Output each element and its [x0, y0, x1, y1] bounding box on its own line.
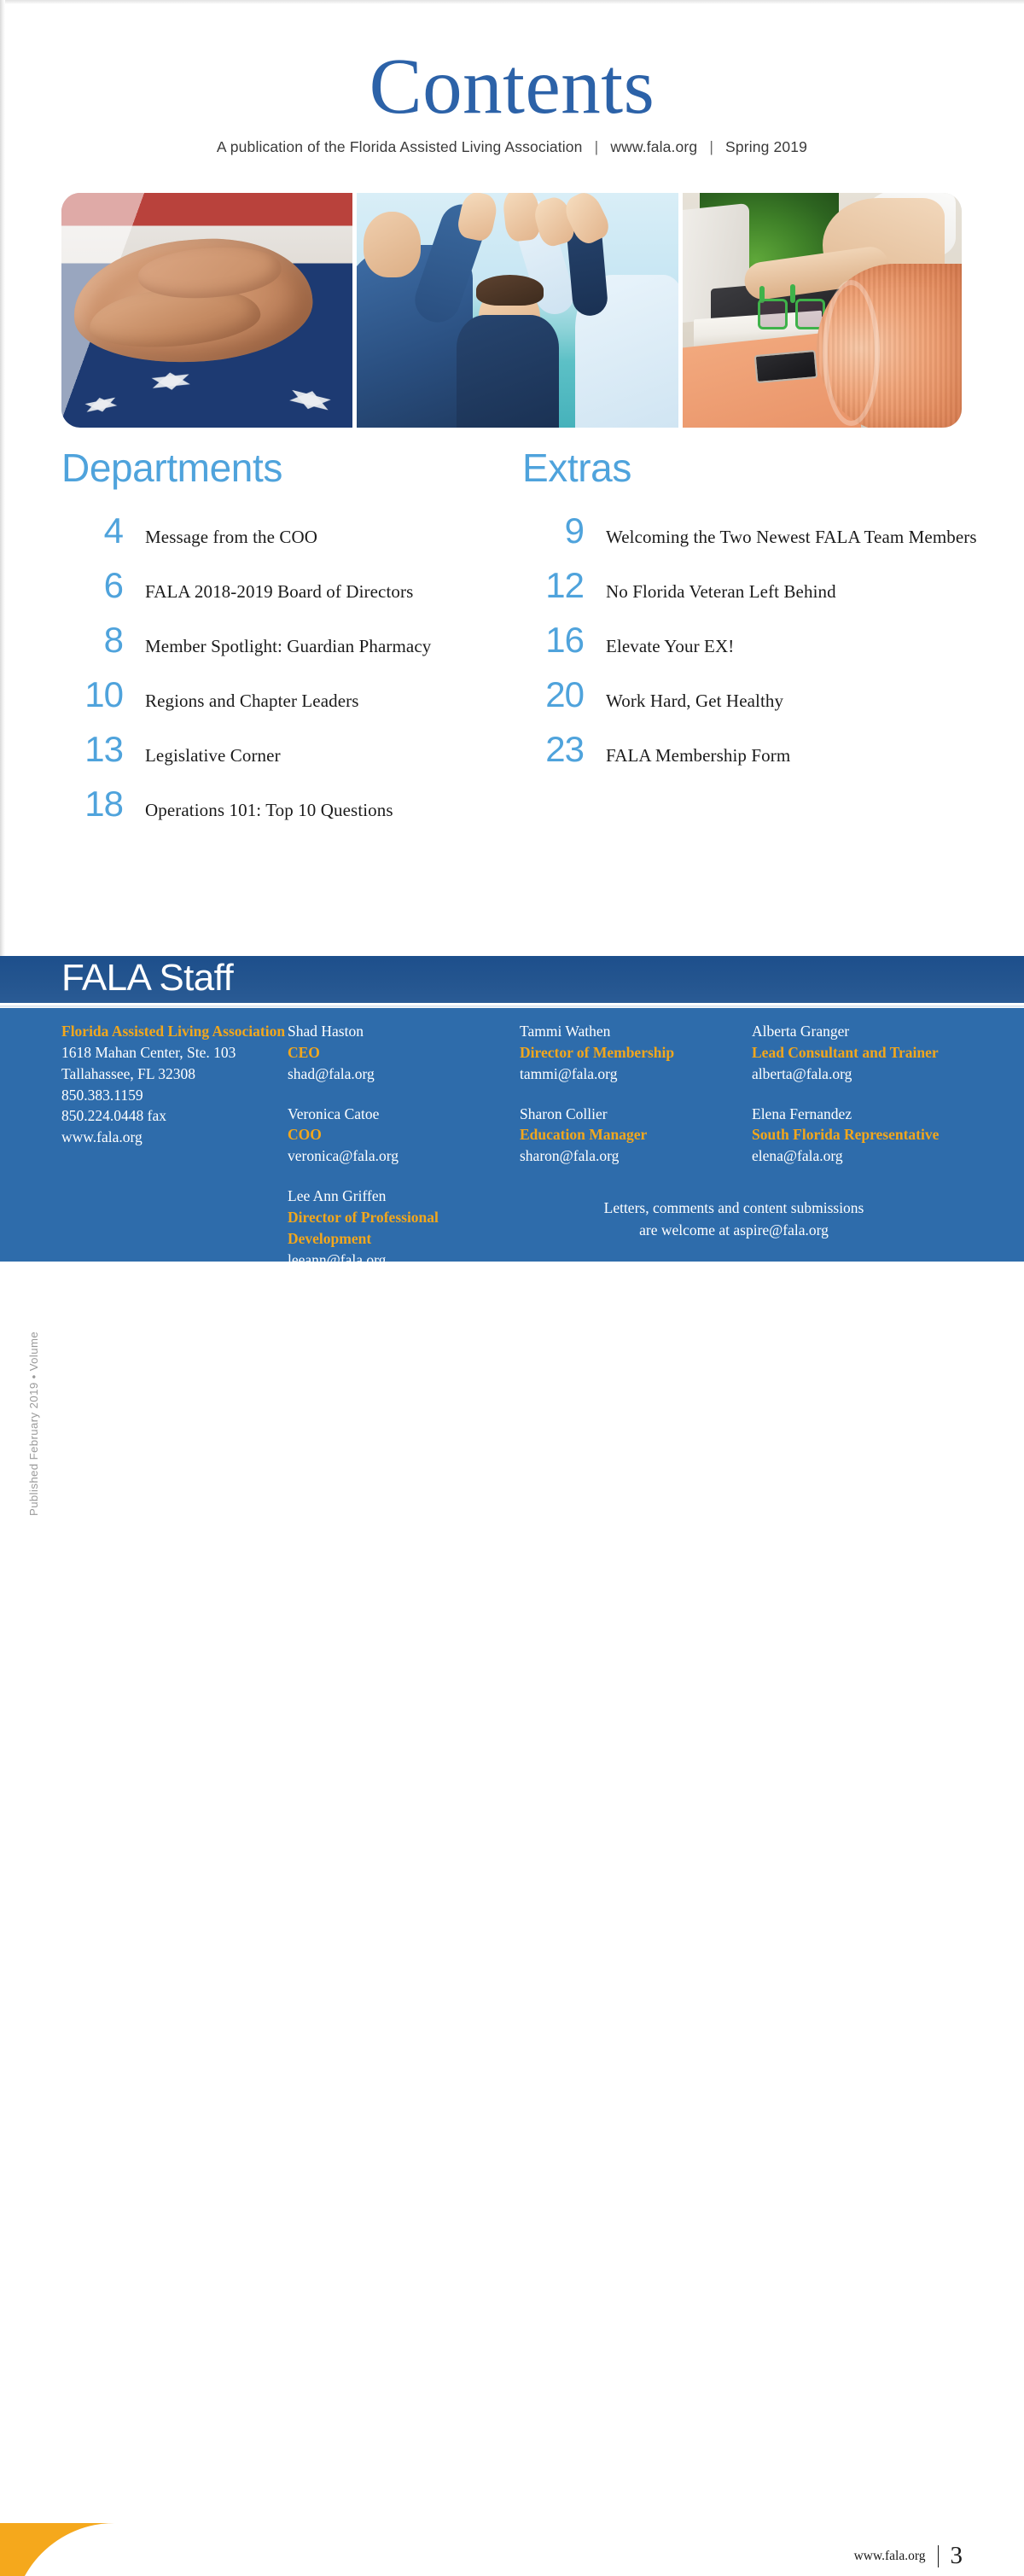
- magazine-contents-page: Contents A publication of the Florida As…: [0, 0, 1024, 1330]
- toc-entry[interactable]: 9 Welcoming the Two Newest FALA Team Mem…: [522, 513, 983, 568]
- toc-entry[interactable]: 12 No Florida Veteran Left Behind: [522, 568, 983, 622]
- staff-member-email[interactable]: shad@fala.org: [288, 1064, 520, 1085]
- toc-entry-title: Operations 101: Top 10 Questions: [123, 800, 393, 821]
- toc-entry[interactable]: 13 Legislative Corner: [61, 731, 522, 786]
- toc-entry-title: Member Spotlight: Guardian Pharmacy: [123, 636, 431, 657]
- toc-page-number: 12: [522, 568, 584, 603]
- toc-page-number: 10: [61, 677, 123, 713]
- staff-member-name: Elena Fernandez: [752, 1104, 991, 1125]
- toc-entry-title: Work Hard, Get Healthy: [584, 691, 783, 712]
- organization-info-column: Florida Assisted Living Association 1618…: [61, 1021, 288, 1289]
- staff-member-email[interactable]: veronica@fala.org: [288, 1145, 520, 1167]
- letters-line-1: Letters, comments and content submission…: [512, 1197, 956, 1219]
- staff-member: Elena Fernandez South Florida Representa…: [752, 1104, 991, 1168]
- staff-member-name: Sharon Collier: [520, 1104, 752, 1125]
- organization-address-line2: Tallahassee, FL 32308: [61, 1064, 288, 1085]
- masthead-separator-1: |: [587, 138, 607, 155]
- staff-member-email[interactable]: elena@fala.org: [752, 1145, 991, 1167]
- staff-member-role: Director of Membership: [520, 1042, 752, 1064]
- footer-page-number: 3: [951, 2542, 963, 2570]
- staff-column-3: Alberta Granger Lead Consultant and Trai…: [752, 1021, 991, 1289]
- toc-entry-title: Regions and Chapter Leaders: [123, 691, 359, 712]
- staff-member: Alberta Granger Lead Consultant and Trai…: [752, 1021, 991, 1085]
- toc-entry-title: FALA 2018-2019 Board of Directors: [123, 581, 413, 603]
- staff-member-role: Education Manager: [520, 1124, 752, 1145]
- page-top-edge: [0, 0, 1024, 4]
- staff-member-email[interactable]: sharon@fala.org: [520, 1145, 752, 1167]
- masthead-subtitle: A publication of the Florida Assisted Li…: [0, 138, 1024, 156]
- staff-column-1: Shad Haston CEO shad@fala.org Veronica C…: [288, 1021, 520, 1289]
- staff-member-name: Veronica Catoe: [288, 1104, 520, 1125]
- staff-member-role: COO: [288, 1124, 520, 1145]
- page-footer: www.fala.org 3: [0, 1262, 1024, 1330]
- toc-page-number: 20: [522, 677, 584, 713]
- departments-heading: Departments: [61, 448, 522, 487]
- staff-member-role: South Florida Representative: [752, 1124, 991, 1145]
- staff-member-email[interactable]: tammi@fala.org: [520, 1064, 752, 1085]
- staff-member: Shad Haston CEO shad@fala.org: [288, 1021, 520, 1085]
- toc-page-number: 8: [61, 622, 123, 658]
- staff-member-role: CEO: [288, 1042, 520, 1064]
- publication-line: A publication of the Florida Assisted Li…: [217, 138, 583, 155]
- toc-entry[interactable]: 8 Member Spotlight: Guardian Pharmacy: [61, 622, 522, 677]
- toc-page-number: 18: [61, 786, 123, 822]
- extras-heading: Extras: [522, 448, 983, 487]
- toc-entry-title: Welcoming the Two Newest FALA Team Membe…: [584, 527, 977, 548]
- toc-page-number: 6: [61, 568, 123, 603]
- organization-fax: 850.224.0448 fax: [61, 1105, 288, 1127]
- departments-column: Departments 4 Message from the COO 6 FAL…: [61, 448, 522, 841]
- toc-entry-title: FALA Membership Form: [584, 745, 790, 766]
- staff-member-email[interactable]: alberta@fala.org: [752, 1064, 991, 1085]
- toc-page-number: 13: [61, 731, 123, 767]
- staff-member: Sharon Collier Education Manager sharon@…: [520, 1104, 752, 1168]
- footer-website[interactable]: www.fala.org: [854, 2549, 926, 2564]
- staff-member-role: Lead Consultant and Trainer: [752, 1042, 991, 1064]
- organization-address-line1: 1618 Mahan Center, Ste. 103: [61, 1042, 288, 1064]
- toc-entry-title: Legislative Corner: [123, 745, 281, 766]
- fala-staff-panel: FALA Staff Florida Assisted Living Assoc…: [0, 956, 1024, 1262]
- footer-divider: [938, 2545, 939, 2567]
- staff-member-name: Alberta Granger: [752, 1021, 991, 1042]
- staff-member-name: Tammi Wathen: [520, 1021, 752, 1042]
- staff-member: Lee Ann Griffen Director of Professional…: [288, 1186, 520, 1270]
- staff-member-name: Shad Haston: [288, 1021, 520, 1042]
- organization-website[interactable]: www.fala.org: [61, 1127, 288, 1148]
- toc-page-number: 9: [522, 513, 584, 549]
- masthead-website[interactable]: www.fala.org: [610, 138, 697, 155]
- toc-entry-title: Elevate Your EX!: [584, 636, 734, 657]
- extras-column: Extras 9 Welcoming the Two Newest FALA T…: [522, 448, 983, 841]
- page-title: Contents: [0, 44, 1024, 130]
- masthead-separator-2: |: [701, 138, 721, 155]
- table-of-contents: Departments 4 Message from the COO 6 FAL…: [0, 448, 1024, 841]
- gold-corner-accent: [0, 2523, 137, 2576]
- letters-line-2: are welcome at aspire@fala.org: [512, 1219, 956, 1241]
- staff-column-2: Tammi Wathen Director of Membership tamm…: [520, 1021, 752, 1289]
- toc-entry[interactable]: 4 Message from the COO: [61, 513, 522, 568]
- staff-member-name: Lee Ann Griffen: [288, 1186, 520, 1207]
- toc-entry[interactable]: 20 Work Hard, Get Healthy: [522, 677, 983, 731]
- masthead: Contents A publication of the Florida As…: [0, 44, 1024, 156]
- organization-name: Florida Assisted Living Association: [61, 1021, 288, 1042]
- letters-invitation: Letters, comments and content submission…: [512, 1197, 956, 1242]
- toc-entry[interactable]: 10 Regions and Chapter Leaders: [61, 677, 522, 731]
- toc-entry[interactable]: 16 Elevate Your EX!: [522, 622, 983, 677]
- staff-member: Veronica Catoe COO veronica@fala.org: [288, 1104, 520, 1168]
- toc-page-number: 4: [61, 513, 123, 549]
- masthead-issue: Spring 2019: [725, 138, 807, 155]
- staff-heading: FALA Staff: [61, 957, 233, 1000]
- hero-image-strip: [61, 193, 962, 428]
- toc-entry-title: No Florida Veteran Left Behind: [584, 581, 836, 603]
- toc-entry[interactable]: 6 FALA 2018-2019 Board of Directors: [61, 568, 522, 622]
- staff-member-role: Director of Professional Development: [288, 1207, 520, 1250]
- staff-header-rule: [0, 1003, 1024, 1008]
- footer-meta: www.fala.org 3: [854, 2542, 963, 2570]
- toc-page-number: 16: [522, 622, 584, 658]
- staff-columns: Florida Assisted Living Association 1618…: [0, 1021, 1024, 1289]
- laptop-yoga-mat-photo: [683, 193, 962, 428]
- elderly-hands-on-flag-photo: [61, 193, 352, 428]
- toc-entry-title: Message from the COO: [123, 527, 317, 548]
- toc-entry[interactable]: 18 Operations 101: Top 10 Questions: [61, 786, 522, 841]
- toc-page-number: 23: [522, 731, 584, 767]
- staff-member: Tammi Wathen Director of Membership tamm…: [520, 1021, 752, 1085]
- team-high-five-photo: [357, 193, 678, 428]
- organization-phone: 850.383.1159: [61, 1085, 288, 1106]
- toc-entry[interactable]: 23 FALA Membership Form: [522, 731, 983, 786]
